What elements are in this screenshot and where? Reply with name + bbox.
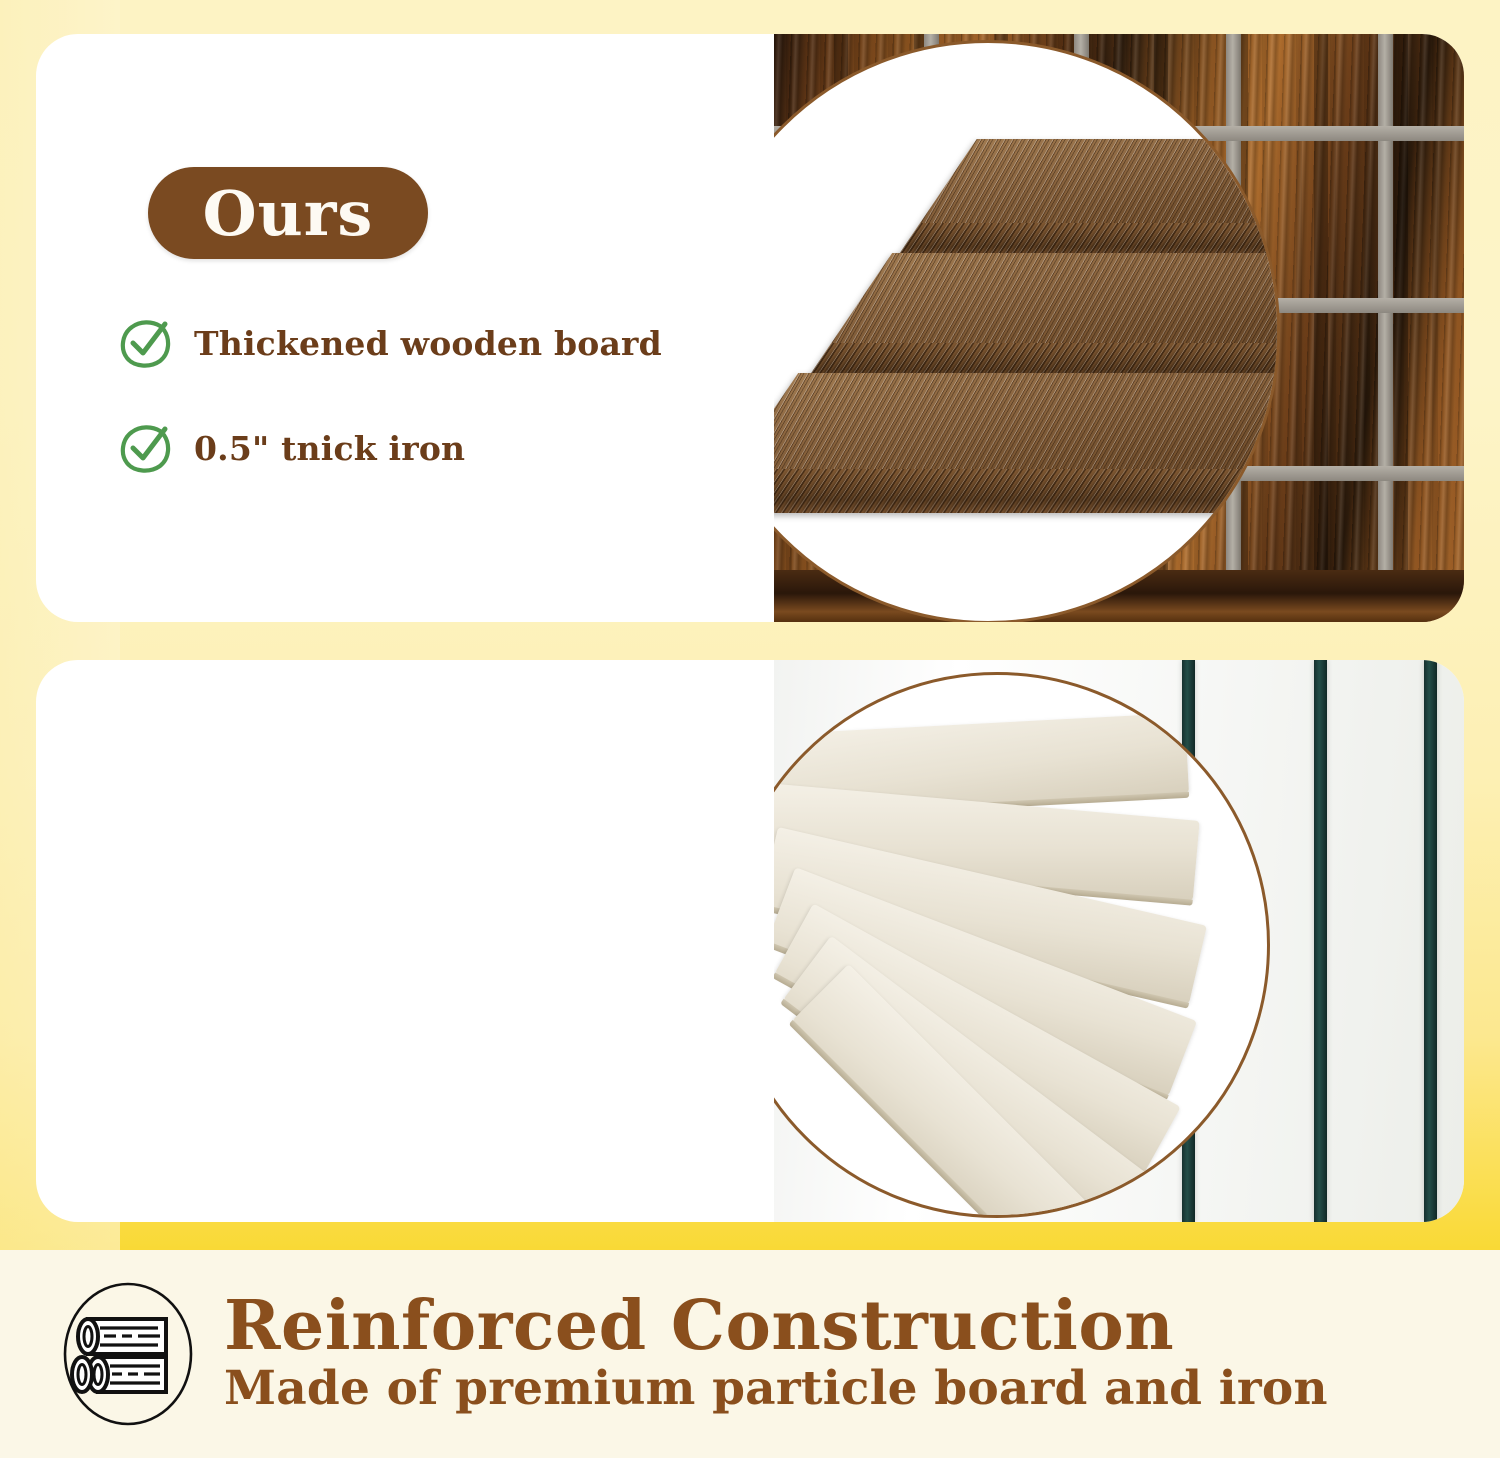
others-photo — [774, 660, 1464, 1222]
banner-title: Reinforced Construction — [224, 1292, 1328, 1361]
ours-bullet-1-label: Thickened wooden board — [194, 324, 662, 363]
iron-rod-2 — [1314, 660, 1327, 1222]
ours-bullet-2: 0.5" tnick iron — [120, 422, 465, 474]
ours-badge: Ours — [148, 167, 428, 259]
others-panel: Others Inferior thin wooden board Thin i… — [36, 660, 1464, 1222]
stacked-logs-icon — [58, 1279, 198, 1429]
ours-bullet-2-label: 0.5" tnick iron — [194, 429, 465, 468]
banner-text-block: Reinforced Construction Made of premium … — [224, 1292, 1328, 1416]
infographic-page: Ours Thickened wooden board 0.5" tnick i… — [0, 0, 1500, 1458]
ours-photo — [774, 34, 1464, 622]
ours-panel: Ours Thickened wooden board 0.5" tnick i… — [36, 34, 1464, 622]
thick-board-middle — [806, 253, 1280, 381]
banner-subtitle: Made of premium particle board and iron — [224, 1363, 1328, 1416]
lattice-bar-v4 — [1378, 34, 1393, 622]
ours-bullet-1: Thickened wooden board — [120, 317, 662, 369]
thick-board-bottom — [774, 373, 1280, 513]
thick-board-top — [897, 139, 1280, 257]
check-circle-icon — [120, 422, 172, 474]
bottom-banner: Reinforced Construction Made of premium … — [0, 1250, 1500, 1458]
check-circle-icon — [120, 317, 172, 369]
iron-rod-3 — [1424, 660, 1437, 1222]
